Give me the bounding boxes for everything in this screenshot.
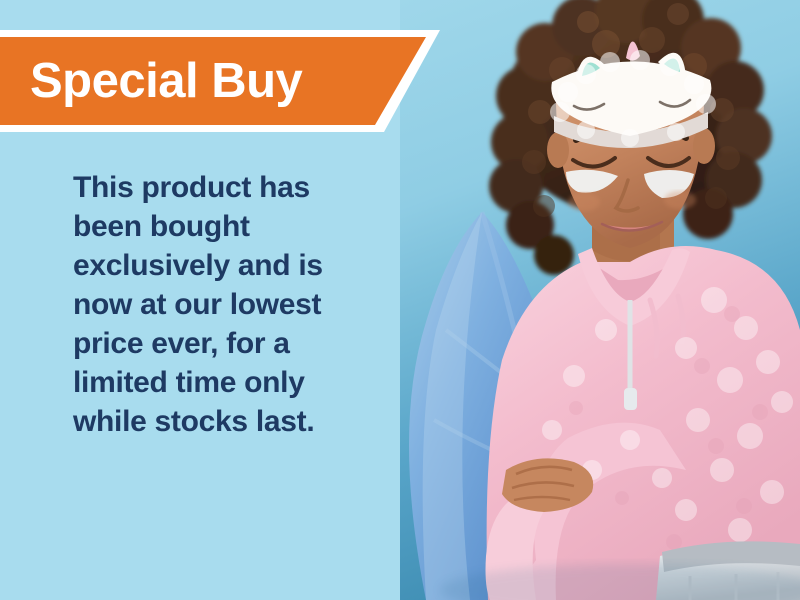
ribbon-title: Special Buy	[30, 30, 430, 132]
promo-banner: Special Buy This product has been bought…	[0, 0, 800, 600]
promo-body-text: This product has been bought exclusively…	[73, 168, 383, 441]
